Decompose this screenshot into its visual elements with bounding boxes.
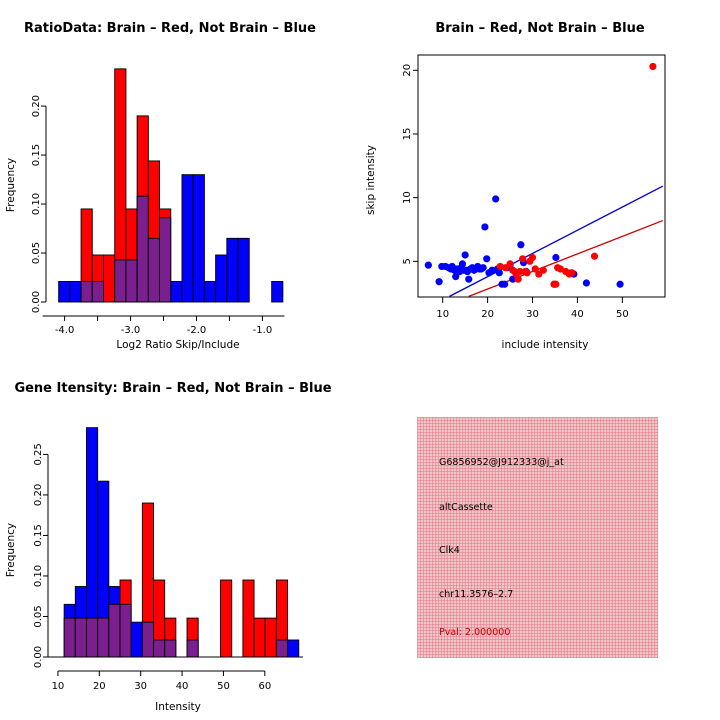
ratio-ylabel: Frequency	[5, 158, 17, 212]
histogram-bar-overlap	[75, 618, 86, 657]
scatter-regression-lines-group	[449, 186, 662, 296]
scatter-point	[462, 251, 469, 258]
y-tick-label: 5	[402, 258, 413, 264]
panel-annotation-info: G6856952@J912333@j_at altCassette Clk4 c…	[360, 360, 720, 720]
plot-frame	[418, 55, 665, 297]
histogram-bar-overlap	[109, 604, 120, 657]
scatter-point	[496, 269, 503, 276]
histogram-bar-overlap	[142, 622, 153, 657]
scatter-frame-group	[418, 55, 665, 297]
histogram-bar	[70, 281, 81, 302]
gene-xlabel: Intensity	[155, 701, 201, 713]
histogram-bar-overlap	[160, 218, 171, 302]
panel-gene-intensity-histogram: Gene Itensity: Brain – Red, Not Brain – …	[0, 360, 360, 720]
plot-page: RatioData: Brain – Red, Not Brain – Blue…	[0, 0, 720, 720]
histogram-bar-overlap	[137, 196, 148, 302]
scatter-point	[616, 281, 623, 288]
histogram-bar	[104, 255, 115, 302]
y-tick-label: 0.05	[33, 605, 44, 627]
probe-id-text: G6856952@J912333@j_at	[439, 457, 564, 468]
ratio-panel-title: RatioData: Brain – Red, Not Brain – Blue	[24, 21, 316, 36]
x-tick-label: 20	[481, 309, 494, 320]
pval-text: Pval: 2.000000	[439, 627, 510, 638]
gene-symbol-text: Clk4	[439, 545, 460, 556]
histogram-bar-overlap	[165, 640, 176, 657]
histogram-bar	[131, 622, 142, 657]
regression-line	[469, 221, 663, 297]
histogram-bar-overlap	[187, 640, 198, 657]
y-tick-label: 0.20	[31, 95, 42, 117]
histogram-bar	[193, 175, 204, 302]
gene-panel-title: Gene Itensity: Brain – Red, Not Brain – …	[14, 381, 331, 396]
scatter-point	[540, 267, 547, 274]
scatter-svg: Brain – Red, Not Brain – Blue 5101520102…	[360, 0, 720, 360]
scatter-point	[649, 63, 656, 70]
scatter-point	[459, 260, 466, 267]
histogram-bar	[182, 175, 193, 302]
x-tick-label: 40	[571, 309, 584, 320]
x-tick-label: 50	[217, 681, 230, 692]
y-tick-label: 0.10	[31, 193, 42, 215]
scatter-point	[568, 269, 575, 276]
histogram-bar	[238, 238, 249, 302]
histogram-bar	[59, 281, 70, 302]
x-tick-label: 30	[134, 681, 147, 692]
scatter-xlabel: include intensity	[502, 339, 589, 351]
histogram-bar-overlap	[64, 618, 75, 657]
scatter-point	[524, 269, 531, 276]
y-tick-label: 10	[402, 191, 413, 204]
x-tick-label: 20	[93, 681, 106, 692]
ratio-histogram-svg: RatioData: Brain – Red, Not Brain – Blue…	[0, 0, 360, 360]
histogram-bar-overlap	[126, 260, 137, 302]
ratio-xlabel: Log2 Ratio Skip/Include	[116, 339, 239, 351]
scatter-point	[529, 254, 536, 261]
scatter-point	[425, 262, 432, 269]
scatter-point	[506, 260, 513, 267]
gene-histogram-svg: Gene Itensity: Brain – Red, Not Brain – …	[0, 360, 360, 720]
event-type-text: altCassette	[439, 502, 493, 513]
histogram-bar-overlap	[98, 618, 109, 657]
scatter-point	[552, 281, 559, 288]
scatter-point	[519, 255, 526, 262]
histogram-bar	[288, 640, 299, 657]
scatter-point	[552, 254, 559, 261]
panel-ratio-histogram: RatioData: Brain – Red, Not Brain – Blue…	[0, 0, 360, 360]
histogram-bar-overlap	[92, 281, 103, 302]
x-tick-label: 10	[52, 681, 65, 692]
x-tick-label: 10	[436, 309, 449, 320]
histogram-bar	[254, 618, 265, 657]
scatter-point	[481, 223, 488, 230]
x-tick-label: -2.0	[187, 325, 207, 336]
histogram-bar-overlap	[148, 238, 159, 302]
ratio-bars-group	[59, 69, 283, 302]
histogram-bar-overlap	[81, 281, 92, 302]
locus-text: chr11.3576–2.7	[439, 589, 513, 600]
x-tick-label: -3.0	[121, 325, 141, 336]
scatter-point	[517, 241, 524, 248]
scatter-point	[501, 281, 508, 288]
scatter-points-group	[425, 63, 657, 288]
histogram-bar	[265, 618, 276, 657]
histogram-bar	[204, 281, 215, 302]
scatter-point	[436, 278, 443, 285]
y-tick-label: 15	[402, 128, 413, 141]
scatter-point	[480, 264, 487, 271]
histogram-bar-overlap	[115, 260, 126, 302]
scatter-point	[515, 276, 522, 283]
y-tick-label: 0.25	[33, 443, 44, 465]
histogram-bar	[171, 281, 182, 302]
annotation-box: G6856952@J912333@j_at altCassette Clk4 c…	[417, 417, 658, 658]
y-tick-label: 0.00	[33, 646, 44, 668]
y-tick-label: 0.15	[31, 144, 42, 166]
regression-line	[449, 186, 662, 296]
x-tick-label: -1.0	[253, 325, 273, 336]
histogram-bar-overlap	[120, 604, 131, 657]
histogram-bar	[227, 238, 238, 302]
scatter-point	[483, 255, 490, 262]
y-tick-label: 0.05	[31, 242, 42, 264]
y-tick-label: 0.15	[33, 524, 44, 546]
x-tick-label: 50	[616, 309, 629, 320]
y-tick-label: 0.00	[31, 291, 42, 313]
x-tick-label: -4.0	[55, 325, 75, 336]
y-tick-label: 20	[402, 64, 413, 77]
histogram-bar	[243, 580, 254, 657]
x-tick-label: 60	[258, 681, 271, 692]
gene-ylabel: Frequency	[5, 523, 17, 577]
scatter-panel-title: Brain – Red, Not Brain – Blue	[435, 21, 644, 36]
histogram-bar-overlap	[276, 640, 287, 657]
histogram-bar	[221, 580, 232, 657]
histogram-bar-overlap	[154, 640, 165, 657]
y-tick-label: 0.20	[33, 484, 44, 506]
scatter-point	[591, 253, 598, 260]
scatter-point	[465, 276, 472, 283]
scatter-point	[583, 279, 590, 286]
y-tick-label: 0.10	[33, 565, 44, 587]
histogram-bar	[272, 281, 283, 302]
gene-bars-group	[64, 428, 299, 657]
panel-intensity-scatter: Brain – Red, Not Brain – Blue 5101520102…	[360, 0, 720, 360]
x-tick-label: 30	[526, 309, 539, 320]
histogram-bar	[216, 255, 227, 302]
scatter-point	[492, 195, 499, 202]
scatter-ylabel: skip intensity	[365, 145, 377, 215]
x-tick-label: 40	[176, 681, 189, 692]
histogram-bar-overlap	[86, 618, 97, 657]
